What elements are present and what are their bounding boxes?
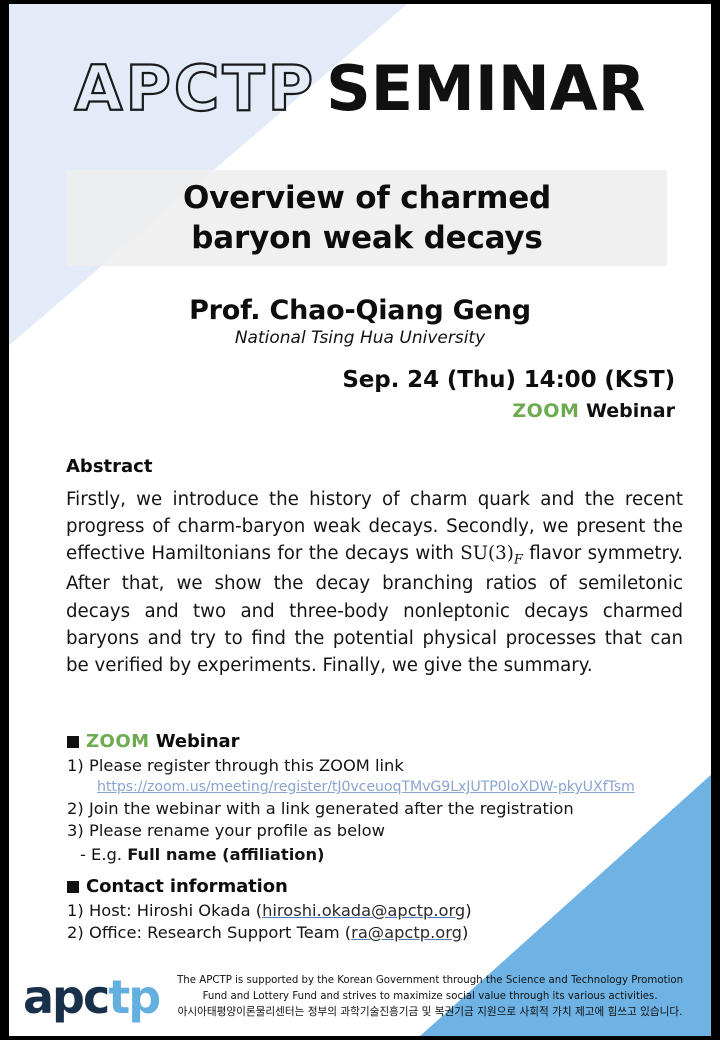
abstract-section: Abstract Firstly, we introduce the histo… bbox=[66, 456, 683, 679]
host-email-link[interactable]: hiroshi.okada@apctp.org bbox=[262, 901, 465, 920]
rename-example-bold: Full name (affiliation) bbox=[127, 845, 324, 864]
event-datetime: Sep. 24 (Thu) 14:00 (KST) bbox=[342, 367, 675, 393]
talk-title-box: Overview of charmed baryon weak decays bbox=[67, 170, 667, 266]
zoom-webinar-section: ZOOM Webinar 1)Please register through t… bbox=[67, 731, 687, 866]
rename-example-prefix: - E.g. bbox=[80, 845, 127, 864]
zoom-rename-example: - E.g. Full name (affiliation) bbox=[80, 843, 687, 867]
zoom-step-2: 2)Join the webinar with a link generated… bbox=[67, 798, 687, 820]
header-apctp-text: APCTP bbox=[74, 52, 326, 125]
zoom-step-3-text: Please rename your profile as below bbox=[89, 821, 385, 840]
speaker-block: Prof. Chao-Qiang Geng National Tsing Hua… bbox=[9, 295, 711, 348]
poster-header-title: APCTPSEMINAR bbox=[9, 52, 711, 125]
seminar-poster: APCTPSEMINAR Overview of charmed baryon … bbox=[0, 0, 720, 1040]
zoom-heading-brand: ZOOM bbox=[86, 731, 150, 752]
office-email-link[interactable]: ra@apctp.org bbox=[351, 923, 462, 942]
abstract-formula: SU(3)F bbox=[460, 543, 523, 564]
contact-item-2-number: 2) bbox=[67, 922, 89, 944]
contact-section-heading: Contact information bbox=[67, 876, 687, 897]
apctp-logo-light-part: tp bbox=[108, 970, 159, 1024]
abstract-body: Firstly, we introduce the history of cha… bbox=[66, 486, 683, 679]
talk-title-line-2: baryon weak decays bbox=[183, 218, 551, 258]
contact-information-section: Contact information 1)Host: Hiroshi Okad… bbox=[67, 876, 687, 945]
abstract-formula-subscript: F bbox=[514, 553, 523, 568]
zoom-step-2-text: Join the webinar with a link generated a… bbox=[89, 799, 574, 818]
event-platform: ZOOM Webinar bbox=[342, 400, 675, 422]
poster-footer: apctp The APCTP is supported by the Kore… bbox=[9, 958, 711, 1036]
footer-text-en-line-2: Fund and Lottery Fund and strives to max… bbox=[203, 991, 658, 1002]
square-bullet-icon bbox=[67, 881, 79, 893]
apctp-logo: apctp bbox=[23, 974, 159, 1020]
talk-title: Overview of charmed baryon weak decays bbox=[183, 178, 551, 259]
zoom-step-1-number: 1) bbox=[67, 755, 89, 777]
zoom-step-1-text: Please register through this ZOOM link bbox=[89, 756, 404, 775]
zoom-brand-text: ZOOM bbox=[512, 400, 579, 422]
zoom-section-heading: ZOOM Webinar bbox=[67, 731, 687, 752]
header-seminar-text: SEMINAR bbox=[326, 52, 645, 125]
speaker-name: Prof. Chao-Qiang Geng bbox=[9, 295, 711, 326]
contact-item-1-close: ) bbox=[465, 901, 471, 920]
contact-item-2-close: ) bbox=[462, 923, 468, 942]
zoom-step-1: 1)Please register through this ZOOM link bbox=[67, 755, 687, 777]
abstract-formula-base: SU(3) bbox=[460, 543, 514, 564]
contact-item-host: 1)Host: Hiroshi Okada (hiroshi.okada@apc… bbox=[67, 900, 687, 922]
event-meta: Sep. 24 (Thu) 14:00 (KST) ZOOM Webinar bbox=[342, 367, 675, 422]
talk-title-line-1: Overview of charmed bbox=[183, 178, 551, 218]
speaker-affiliation: National Tsing Hua University bbox=[9, 328, 711, 348]
contact-item-2-label: Office: Research Support Team ( bbox=[89, 923, 351, 942]
footer-text-en-line-1: The APCTP is supported by the Korean Gov… bbox=[177, 975, 683, 986]
zoom-step-3: 3)Please rename your profile as below bbox=[67, 820, 687, 842]
contact-item-office: 2)Office: Research Support Team (ra@apct… bbox=[67, 922, 687, 944]
zoom-step-2-number: 2) bbox=[67, 798, 89, 820]
abstract-heading: Abstract bbox=[66, 456, 683, 477]
contact-item-1-label: Host: Hiroshi Okada ( bbox=[89, 901, 262, 920]
contact-heading-text: Contact information bbox=[86, 876, 288, 897]
contact-item-1-number: 1) bbox=[67, 900, 89, 922]
zoom-step-3-number: 3) bbox=[67, 820, 89, 842]
webinar-text: Webinar bbox=[586, 400, 675, 422]
square-bullet-icon bbox=[67, 736, 79, 748]
zoom-registration-link[interactable]: https://zoom.us/meeting/register/tJ0vceu… bbox=[97, 777, 687, 798]
footer-text-korean: 아시아태평양이론물리센터는 정부의 과학기술진흥기금 및 복권기금 지원으로 사… bbox=[163, 1004, 697, 1020]
apctp-logo-dark-part: apc bbox=[23, 970, 108, 1024]
poster-canvas: APCTPSEMINAR Overview of charmed baryon … bbox=[9, 4, 711, 1036]
zoom-heading-suffix: Webinar bbox=[156, 731, 240, 752]
footer-support-text: The APCTP is supported by the Korean Gov… bbox=[159, 973, 711, 1020]
